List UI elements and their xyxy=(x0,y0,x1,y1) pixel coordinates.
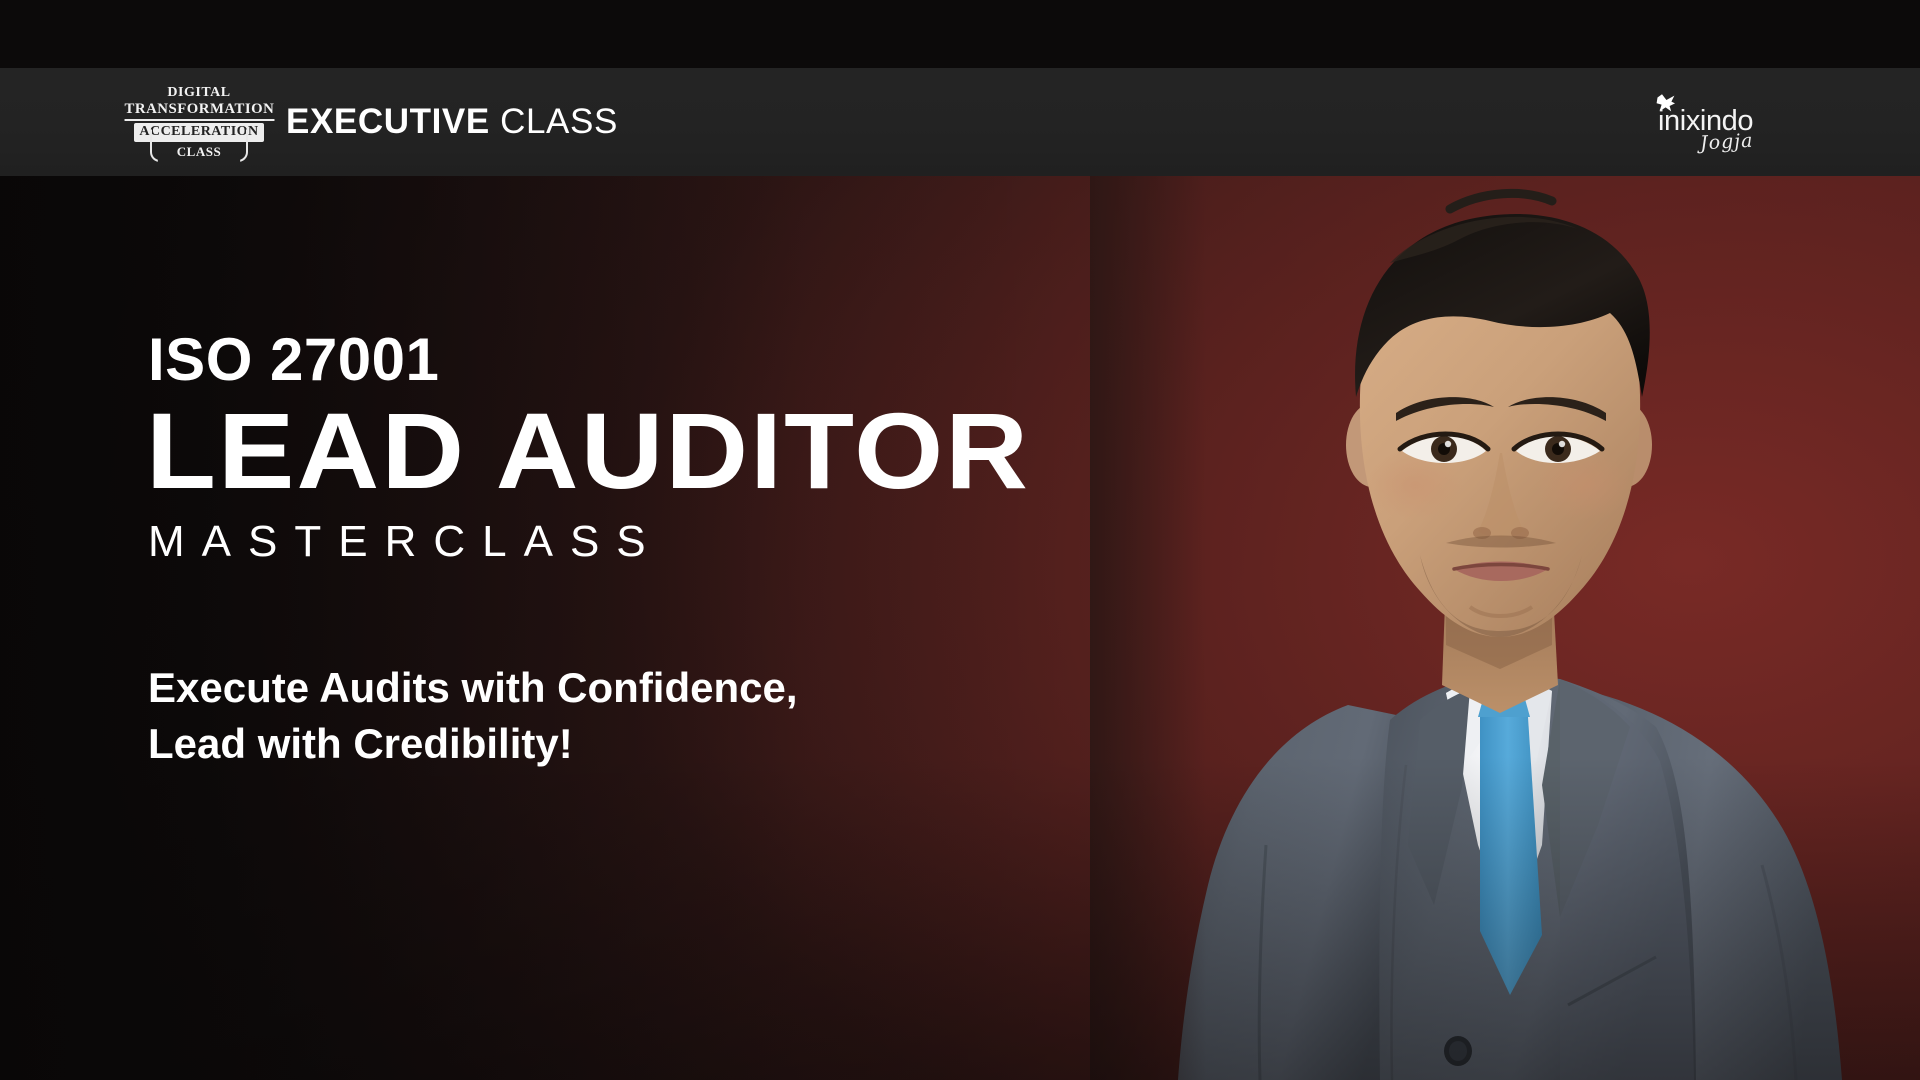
header-title-strong: EXECUTIVE xyxy=(286,102,490,141)
dtac-line-transformation: TRANSFORMATION xyxy=(124,102,274,121)
header-left-group: DIGITAL TRANSFORMATION ACCELERATION CLAS… xyxy=(146,80,618,164)
program-label: MASTERCLASS xyxy=(148,520,1148,564)
tagline-line-2: Lead with Credibility! xyxy=(148,716,1148,771)
main-copy: ISO 27001 LEAD AUDITOR MASTERCLASS Execu… xyxy=(148,330,1148,771)
dtac-badge-icon: DIGITAL TRANSFORMATION ACCELERATION CLAS… xyxy=(146,80,252,164)
top-strip xyxy=(0,0,1920,68)
inixindo-logo[interactable]: inixindo Jogja xyxy=(1652,91,1768,153)
header-bar: DIGITAL TRANSFORMATION ACCELERATION CLAS… xyxy=(0,68,1920,176)
role-title: LEAD AUDITOR xyxy=(146,396,1208,506)
inixindo-locale: Jogja xyxy=(1699,130,1754,155)
header-title: EXECUTIVE CLASS xyxy=(286,102,618,142)
dtac-line-acceleration: ACCELERATION xyxy=(134,123,263,142)
header-right-group: inixindo Jogja xyxy=(1652,91,1768,153)
tagline: Execute Audits with Confidence, Lead wit… xyxy=(148,660,1148,771)
dtac-line-digital: DIGITAL xyxy=(167,86,230,100)
dtac-line-class: CLASS xyxy=(177,145,221,158)
promo-banner: DIGITAL TRANSFORMATION ACCELERATION CLAS… xyxy=(0,0,1920,1080)
tagline-line-1: Execute Audits with Confidence, xyxy=(148,660,1148,715)
header-title-light: CLASS xyxy=(500,102,618,141)
standard-label: ISO 27001 xyxy=(148,330,1148,390)
